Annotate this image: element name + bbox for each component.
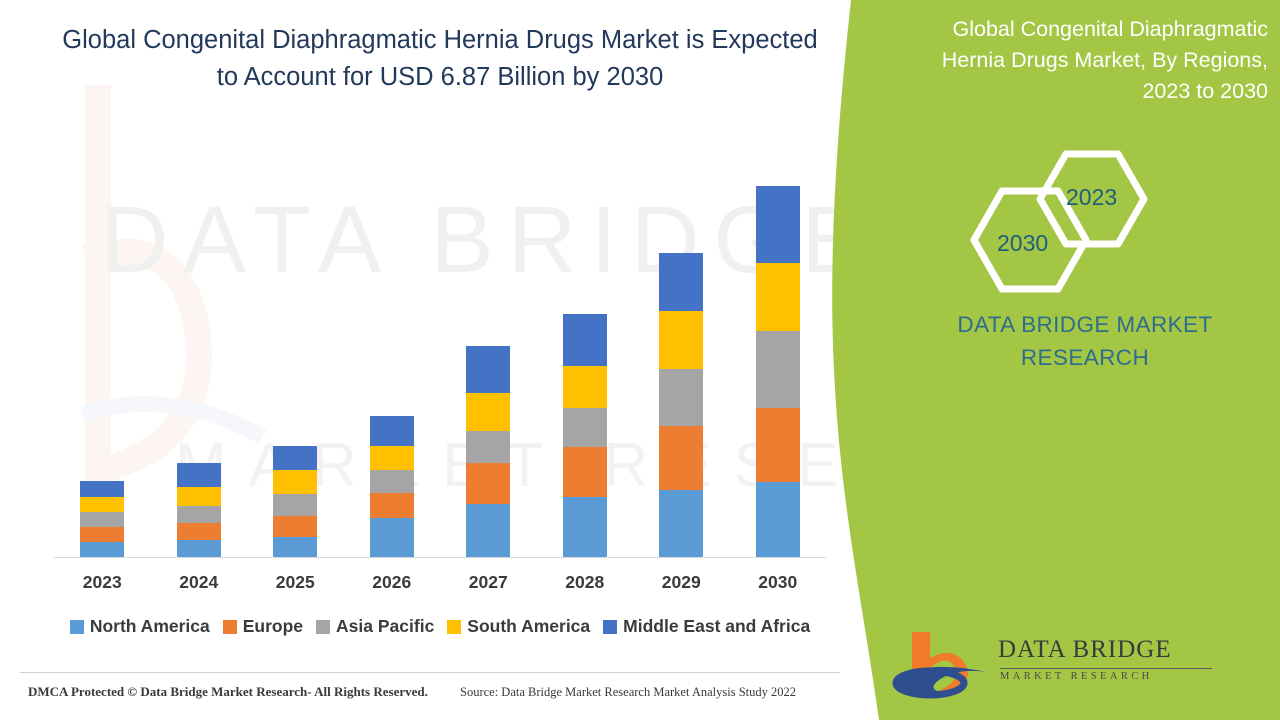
bar-segment xyxy=(80,497,124,512)
brand-name: DATA BRIDGE MARKET RESEARCH xyxy=(890,308,1280,374)
bar-segment xyxy=(659,311,703,369)
stacked-bar xyxy=(659,253,703,558)
stacked-bar xyxy=(370,416,414,558)
legend-item[interactable]: Europe xyxy=(223,616,303,637)
bar-group xyxy=(440,346,537,558)
copyright-text: DMCA Protected © Data Bridge Market Rese… xyxy=(28,684,428,700)
x-axis-line xyxy=(54,557,826,558)
legend-label: North America xyxy=(90,616,210,637)
bar-group xyxy=(344,416,441,558)
legend-item[interactable]: South America xyxy=(447,616,590,637)
bar-segment xyxy=(177,523,221,540)
hexagon-2030-label: 2030 xyxy=(997,230,1048,257)
legend-item[interactable]: Middle East and Africa xyxy=(603,616,810,637)
bar-segment xyxy=(756,331,800,408)
bar-group xyxy=(247,446,344,558)
legend-item[interactable]: North America xyxy=(70,616,210,637)
bar-segment xyxy=(563,497,607,558)
stacked-bar xyxy=(756,186,800,558)
x-axis-label: 2023 xyxy=(54,572,151,593)
logo-wordmark: DATA BRIDGE xyxy=(998,636,1172,664)
chart-panel: DATA BRIDGE MARKET RESEARCH Global Conge… xyxy=(0,0,880,720)
bar-segment xyxy=(563,447,607,497)
side-panel-content: Global Congenital Diaphragmatic Hernia D… xyxy=(890,0,1280,720)
bar-segment xyxy=(659,426,703,490)
bar-segment xyxy=(273,516,317,537)
x-axis-label: 2024 xyxy=(151,572,248,593)
bar-group xyxy=(151,463,248,558)
logo-divider xyxy=(1000,668,1212,669)
stacked-bar-chart xyxy=(54,160,826,558)
legend-label: Asia Pacific xyxy=(336,616,434,637)
stacked-bar xyxy=(466,346,510,558)
bar-segment xyxy=(466,504,510,558)
bar-segment xyxy=(659,253,703,311)
source-text: Source: Data Bridge Market Research Mark… xyxy=(460,685,796,700)
bar-segment xyxy=(756,263,800,331)
bar-group xyxy=(730,186,827,558)
x-axis-label: 2025 xyxy=(247,572,344,593)
bar-segment xyxy=(563,408,607,447)
logo-subtitle: MARKET RESEARCH xyxy=(1000,671,1214,682)
logo-mark-icon xyxy=(890,628,1000,700)
bar-segment xyxy=(370,416,414,446)
bar-group xyxy=(54,481,151,558)
x-axis-labels: 20232024202520262027202820292030 xyxy=(54,572,826,600)
bar-segment xyxy=(563,314,607,366)
side-panel-title: Global Congenital Diaphragmatic Hernia D… xyxy=(890,14,1280,107)
legend-swatch xyxy=(316,620,330,634)
bar-segment xyxy=(177,487,221,506)
bar-segment xyxy=(273,470,317,494)
bar-segment xyxy=(273,537,317,558)
legend-swatch xyxy=(70,620,84,634)
bar-segment xyxy=(80,527,124,542)
bar-segment xyxy=(466,431,510,463)
bar-segment xyxy=(756,408,800,482)
bar-segment xyxy=(80,512,124,527)
x-axis-label: 2027 xyxy=(440,572,537,593)
x-axis-label: 2030 xyxy=(730,572,827,593)
legend-label: Europe xyxy=(243,616,303,637)
bar-segment xyxy=(466,346,510,393)
bar-segment xyxy=(370,518,414,558)
bar-segment xyxy=(177,463,221,487)
bar-segment xyxy=(659,369,703,426)
bar-segment xyxy=(563,366,607,408)
stacked-bar xyxy=(177,463,221,558)
x-axis-label: 2029 xyxy=(633,572,730,593)
hexagon-2023-label: 2023 xyxy=(1066,184,1117,211)
legend-label: South America xyxy=(467,616,590,637)
bar-segment xyxy=(177,506,221,523)
bar-segment xyxy=(273,494,317,516)
bar-segment xyxy=(659,490,703,558)
data-bridge-logo: DATA BRIDGE MARKET RESEARCH xyxy=(890,628,1220,700)
bar-segment xyxy=(177,540,221,558)
legend-label: Middle East and Africa xyxy=(623,616,810,637)
bar-group xyxy=(537,314,634,558)
stacked-bar xyxy=(563,314,607,558)
bar-segment xyxy=(80,542,124,558)
bar-segment xyxy=(466,393,510,431)
bar-segment xyxy=(756,186,800,263)
bar-segment xyxy=(466,463,510,504)
bar-segment xyxy=(273,446,317,470)
bar-segment xyxy=(756,482,800,558)
footer-divider xyxy=(20,672,840,673)
legend-swatch xyxy=(447,620,461,634)
year-hexagons: 2023 2030 xyxy=(970,128,1190,293)
stacked-bar xyxy=(273,446,317,558)
legend-swatch xyxy=(223,620,237,634)
x-axis-label: 2026 xyxy=(344,572,441,593)
bar-segment xyxy=(80,481,124,497)
bar-group xyxy=(633,253,730,558)
bar-segment xyxy=(370,470,414,493)
page-title: Global Congenital Diaphragmatic Hernia D… xyxy=(60,22,820,96)
bar-segment xyxy=(370,493,414,518)
bar-segment xyxy=(370,446,414,470)
legend-swatch xyxy=(603,620,617,634)
stacked-bar xyxy=(80,481,124,558)
x-axis-label: 2028 xyxy=(537,572,634,593)
chart-legend: North AmericaEuropeAsia PacificSouth Ame… xyxy=(54,616,826,637)
legend-item[interactable]: Asia Pacific xyxy=(316,616,434,637)
